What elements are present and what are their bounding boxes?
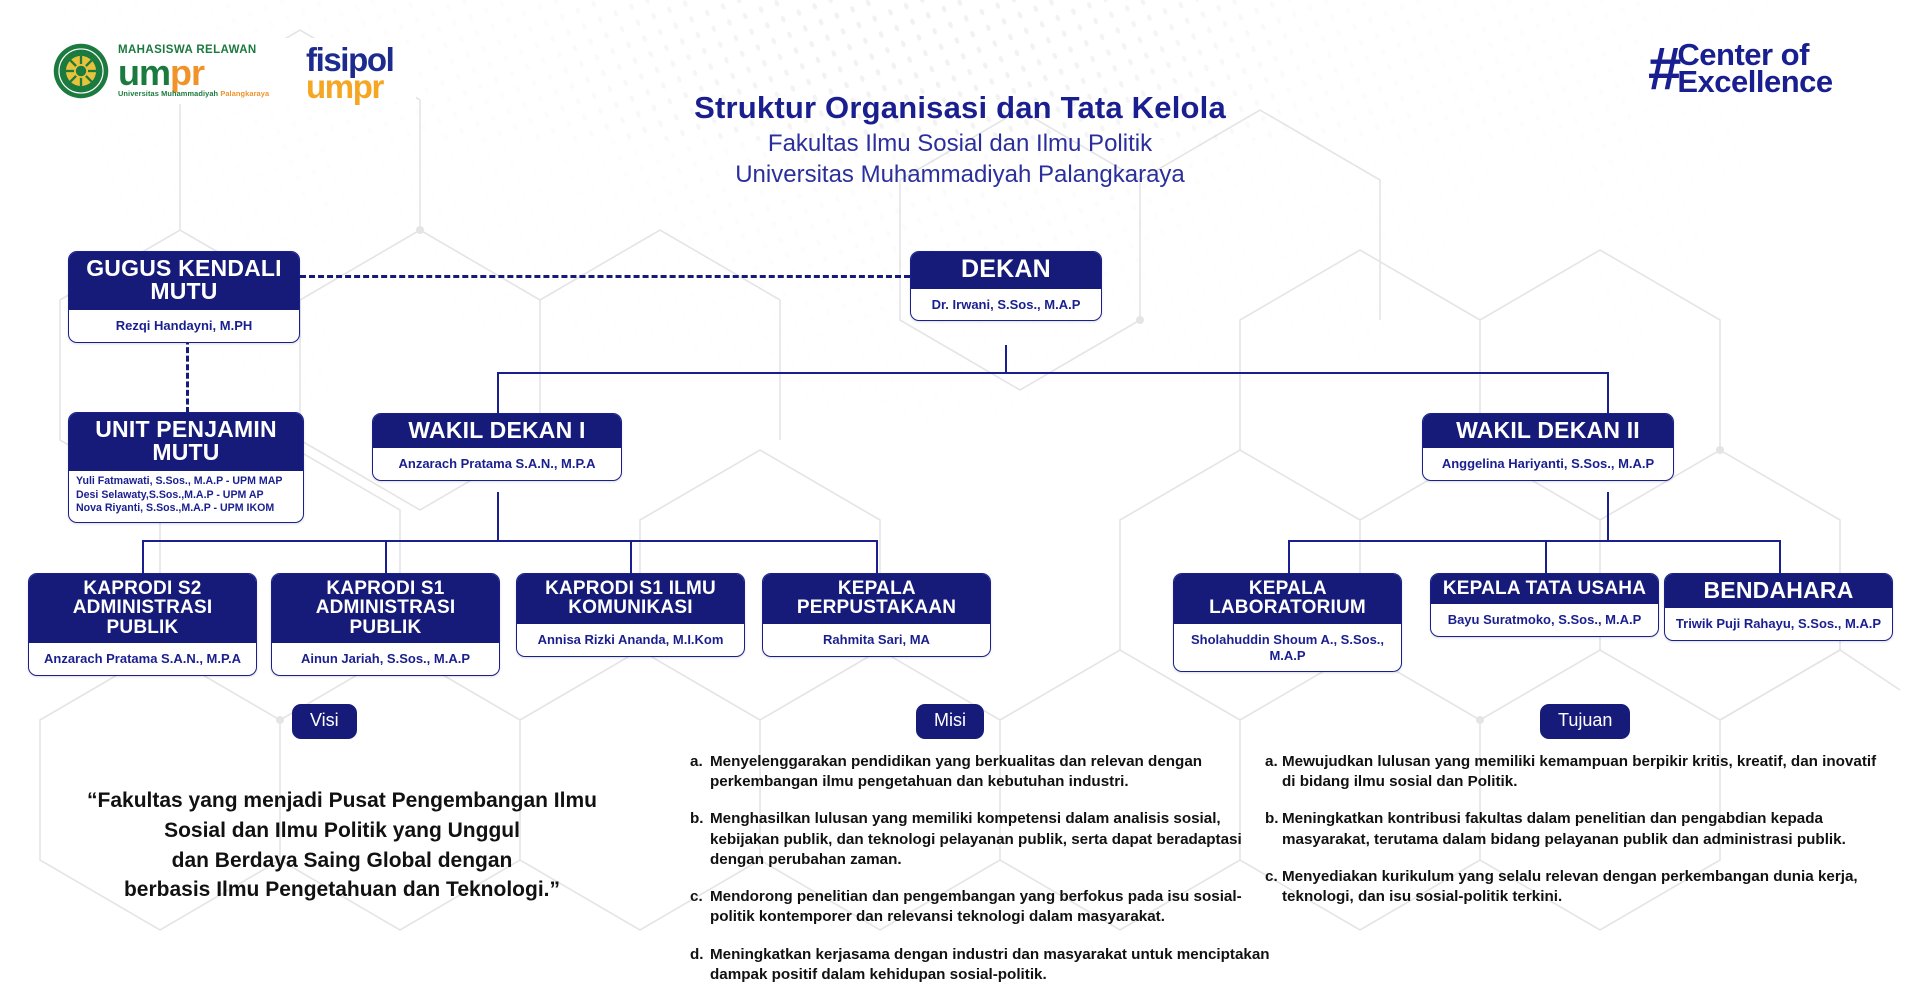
node-kaprodi-s1-ikom-title: KAPRODI S1 ILMU KOMUNIKASI [517,574,744,624]
node-kepala-perpustakaan[interactable]: KEPALA PERPUSTAKAAN Rahmita Sari, MA [762,573,991,657]
node-kaprodi-s1-administrasi-publik[interactable]: KAPRODI S1 ADMINISTRASI PUBLIK Ainun Jar… [271,573,500,676]
connector-to-wakil-dekan-1 [497,372,499,417]
visi-line-2: Sosial dan Ilmu Politik yang Unggul [22,816,662,846]
node-bendahara-name: Triwik Puji Rahayu, S.Sos., M.A.P [1665,608,1892,640]
connector-wd1-bus [142,540,878,542]
connector-to-kepala-laboratorium [1288,540,1290,573]
misi-list: a.Menyelenggarakan pendidikan yang berku… [690,752,1270,1002]
list-item-marker: d. [690,945,710,985]
node-wd1-title: WAKIL DEKAN I [373,414,621,448]
list-item: b.Menghasilkan lulusan yang memiliki kom… [690,809,1270,870]
list-item-text: Menyediakan kurikulum yang selalu releva… [1282,867,1885,907]
list-item-marker: b. [1265,809,1282,849]
list-item-text: Mendorong penelitian dan pengembangan ya… [710,887,1270,927]
list-item: d.Meningkatkan kerjasama dengan industri… [690,945,1270,985]
connector-to-kaprodi-s2-ap [142,540,144,573]
connector-dekan-bus [497,372,1609,374]
node-kaprodi-s2-administrasi-publik[interactable]: KAPRODI S2 ADMINISTRASI PUBLIK Anzarach … [28,573,257,676]
connector-to-kaprodi-s1-ap [385,540,387,573]
visi-label-pill: Visi [292,704,357,739]
node-laboratorium-name: Sholahuddin Shoum A., S.Sos., M.A.P [1174,624,1401,672]
list-item-marker: b. [690,809,710,870]
connector-wd1-stem [497,492,499,540]
list-item-marker: c. [1265,867,1282,907]
node-kepala-tata-usaha[interactable]: KEPALA TATA USAHA Bayu Suratmoko, S.Sos.… [1430,573,1659,637]
list-item-marker: a. [1265,752,1282,792]
list-item: c.Mendorong penelitian dan pengembangan … [690,887,1270,927]
visi-line-4: berbasis Ilmu Pengetahuan dan Teknologi.… [22,875,662,905]
node-tata-usaha-name: Bayu Suratmoko, S.Sos., M.A.P [1431,604,1658,636]
node-perpustakaan-title: KEPALA PERPUSTAKAAN [763,574,990,624]
node-laboratorium-title: KEPALA LABORATORIUM [1174,574,1401,624]
node-kaprodi-s1-ap-name: Ainun Jariah, S.Sos., M.A.P [272,643,499,675]
tujuan-list: a.Mewujudkan lulusan yang memiliki kemam… [1265,752,1885,924]
page-title-block: Struktur Organisasi dan Tata Kelola Faku… [0,90,1920,190]
node-unit-penjamin-mutu[interactable]: UNIT PENJAMIN MUTU Yuli Fatmawati, S.Sos… [68,412,304,523]
visi-line-1: “Fakultas yang menjadi Pusat Pengembanga… [22,786,662,816]
list-item-text: Menyelenggarakan pendidikan yang berkual… [710,752,1270,792]
list-item: c.Menyediakan kurikulum yang selalu rele… [1265,867,1885,907]
list-item-text: Menghasilkan lulusan yang memiliki kompe… [710,809,1270,870]
list-item-text: Meningkatkan kerjasama dengan industri d… [710,945,1270,985]
page-subtitle-line1: Fakultas Ilmu Sosial dan Ilmu Politik [768,130,1152,157]
node-gugus-title: GUGUS KENDALI MUTU [69,252,299,310]
node-kaprodi-s2-name: Anzarach Pratama S.A.N., M.P.A [29,643,256,675]
list-item-text: Mewujudkan lulusan yang memiliki kemampu… [1282,752,1885,792]
connector-gugus-to-dekan [300,275,910,278]
list-item-marker: c. [690,887,710,927]
connector-to-kepala-tata-usaha [1545,540,1547,573]
node-wakil-dekan-2[interactable]: WAKIL DEKAN II Anggelina Hariyanti, S.So… [1422,413,1674,481]
node-tata-usaha-title: KEPALA TATA USAHA [1431,574,1658,604]
node-unit-names: Yuli Fatmawati, S.Sos., M.A.P - UPM MAP … [69,471,303,522]
hash-icon: # [1648,43,1681,95]
node-kepala-laboratorium[interactable]: KEPALA LABORATORIUM Sholahuddin Shoum A.… [1173,573,1402,672]
node-bendahara-title: BENDAHARA [1665,574,1892,608]
list-item: b.Meningkatkan kontribusi fakultas dalam… [1265,809,1885,849]
node-dekan[interactable]: DEKAN Dr. Irwani, S.Sos., M.A.P [910,251,1102,321]
connector-dekan-stem [1005,345,1007,372]
connector-to-wakil-dekan-2 [1607,372,1609,417]
visi-statement: “Fakultas yang menjadi Pusat Pengembanga… [22,786,662,905]
connector-wd2-bus [1288,540,1781,542]
connector-to-kaprodi-s1-ikom [630,540,632,573]
node-wakil-dekan-1[interactable]: WAKIL DEKAN I Anzarach Pratama S.A.N., M… [372,413,622,481]
umpr-wordmark: umpr [118,56,269,89]
list-item-text: Meningkatkan kontribusi fakultas dalam p… [1282,809,1885,849]
misi-label-pill: Misi [916,704,984,739]
node-gugus-kendali-mutu[interactable]: GUGUS KENDALI MUTU Rezqi Handayni, M.PH [68,251,300,343]
page-subtitle-line2: Universitas Muhammadiyah Palangkaraya [735,161,1185,188]
page-subtitle: Fakultas Ilmu Sosial dan Ilmu Politik Un… [0,129,1920,190]
node-unit-title: UNIT PENJAMIN MUTU [69,413,303,471]
visi-line-3: dan Berdaya Saing Global dengan [22,846,662,876]
node-dekan-title: DEKAN [911,252,1101,289]
list-item: a.Mewujudkan lulusan yang memiliki kemam… [1265,752,1885,792]
connector-wd2-stem [1607,492,1609,540]
node-wd1-name: Anzarach Pratama S.A.N., M.P.A [373,448,621,480]
node-wd2-name: Anggelina Hariyanti, S.Sos., M.A.P [1423,448,1673,480]
node-wd2-title: WAKIL DEKAN II [1423,414,1673,448]
node-perpustakaan-name: Rahmita Sari, MA [763,624,990,656]
node-kaprodi-s1-ikom-name: Annisa Rizki Ananda, M.I.Kom [517,624,744,656]
node-dekan-name: Dr. Irwani, S.Sos., M.A.P [911,289,1101,321]
node-kaprodi-s1-ap-title: KAPRODI S1 ADMINISTRASI PUBLIK [272,574,499,643]
node-gugus-name: Rezqi Handayni, M.PH [69,310,299,342]
node-kaprodi-s2-title: KAPRODI S2 ADMINISTRASI PUBLIK [29,574,256,643]
connector-to-bendahara [1779,540,1781,573]
connector-to-kepala-perpustakaan [876,540,878,573]
list-item: a.Menyelenggarakan pendidikan yang berku… [690,752,1270,792]
tujuan-label-pill: Tujuan [1540,704,1630,739]
page-title: Struktur Organisasi dan Tata Kelola [0,90,1920,126]
node-bendahara[interactable]: BENDAHARA Triwik Puji Rahayu, S.Sos., M.… [1664,573,1893,641]
node-kaprodi-s1-ilmu-komunikasi[interactable]: KAPRODI S1 ILMU KOMUNIKASI Annisa Rizki … [516,573,745,657]
list-item-marker: a. [690,752,710,792]
